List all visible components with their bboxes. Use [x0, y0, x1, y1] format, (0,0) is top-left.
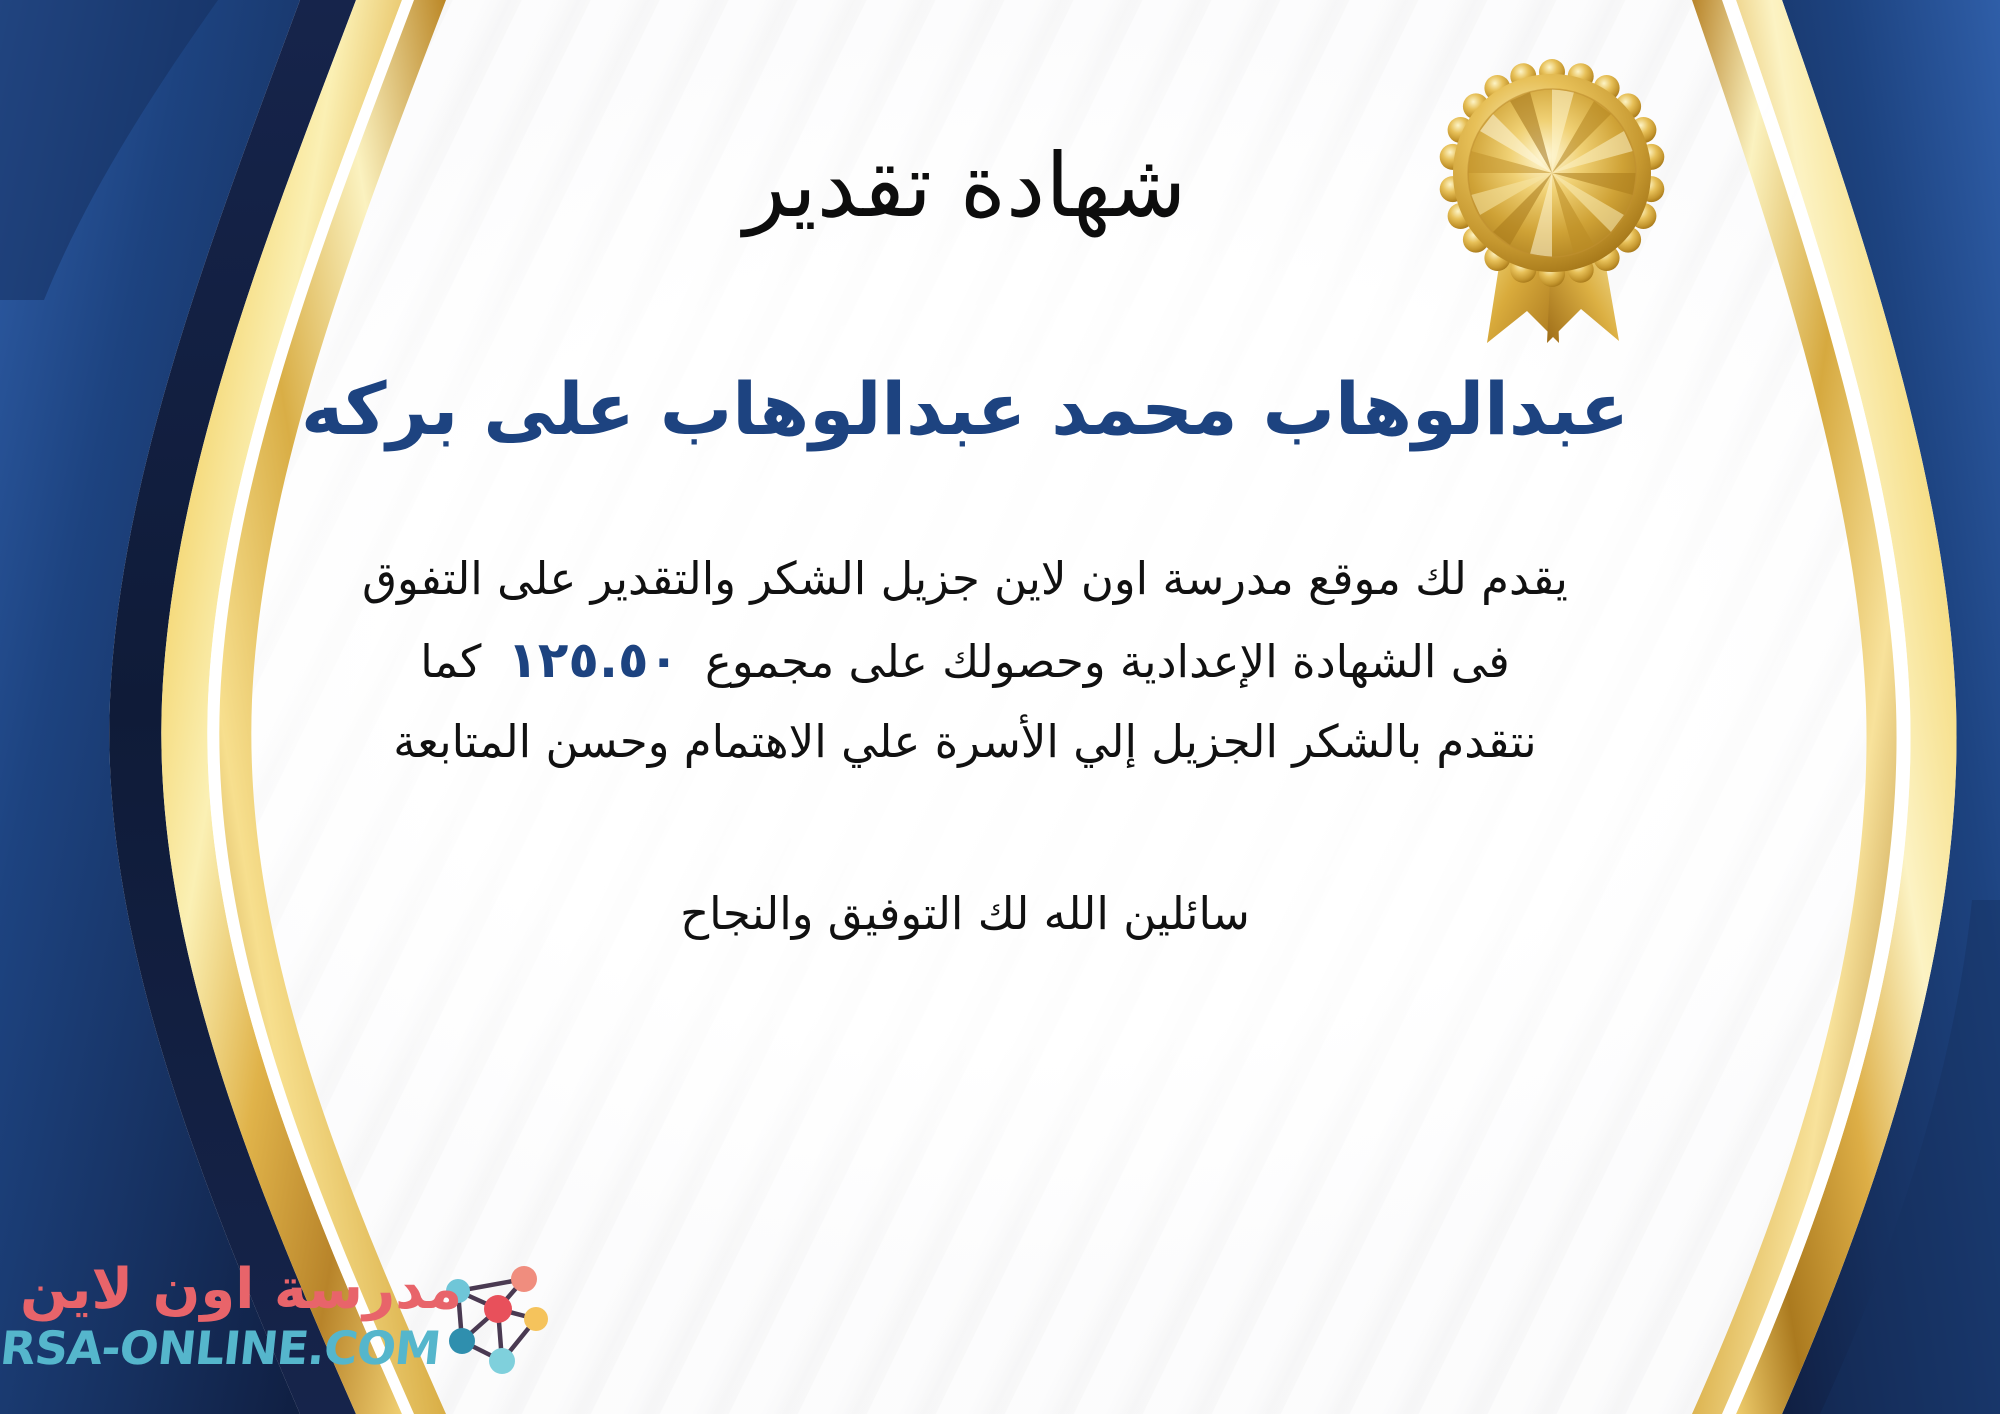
recipient-name: عبدالوهاب محمد عبدالوهاب على بركه — [301, 370, 1629, 449]
body-paragraph: يقدم لك موقع مدرسة اون لاين جزيل الشكر و… — [225, 540, 1705, 951]
brand-website: MADRSA-ONLINE.COM — [0, 1324, 443, 1372]
body-line-2: فى الشهادة الإعدادية وحصولك على مجموع١٢٥… — [225, 617, 1705, 703]
body-line-2-suffix: كما — [420, 635, 481, 688]
grade-value: ١٢٥.٥٠ — [481, 617, 705, 703]
page-title: شهادة تقدير — [744, 140, 1187, 232]
certificate-content: شهادة تقدير عبدالوهاب محمد عبدالوهاب على… — [230, 0, 1700, 1414]
brand-arabic-name: مدرسة اون لاين — [20, 1261, 466, 1320]
body-line-1: يقدم لك موقع مدرسة اون لاين جزيل الشكر و… — [225, 540, 1705, 617]
certificate-canvas: شهادة تقدير عبدالوهاب محمد عبدالوهاب على… — [0, 0, 2000, 1414]
closing-line: سائلين الله لك التوفيق والنجاح — [225, 878, 1705, 950]
brand-text-block: مدرسة اون لاين MADRSA-ONLINE.COM — [20, 1261, 440, 1372]
body-line-3: نتقدم بالشكر الجزيل إلي الأسرة علي الاهت… — [225, 703, 1705, 780]
body-line-2-prefix: فى الشهادة الإعدادية وحصولك على مجموع — [705, 635, 1510, 688]
brand-logo[interactable]: مدرسة اون لاين MADRSA-ONLINE.COM — [26, 1242, 556, 1392]
